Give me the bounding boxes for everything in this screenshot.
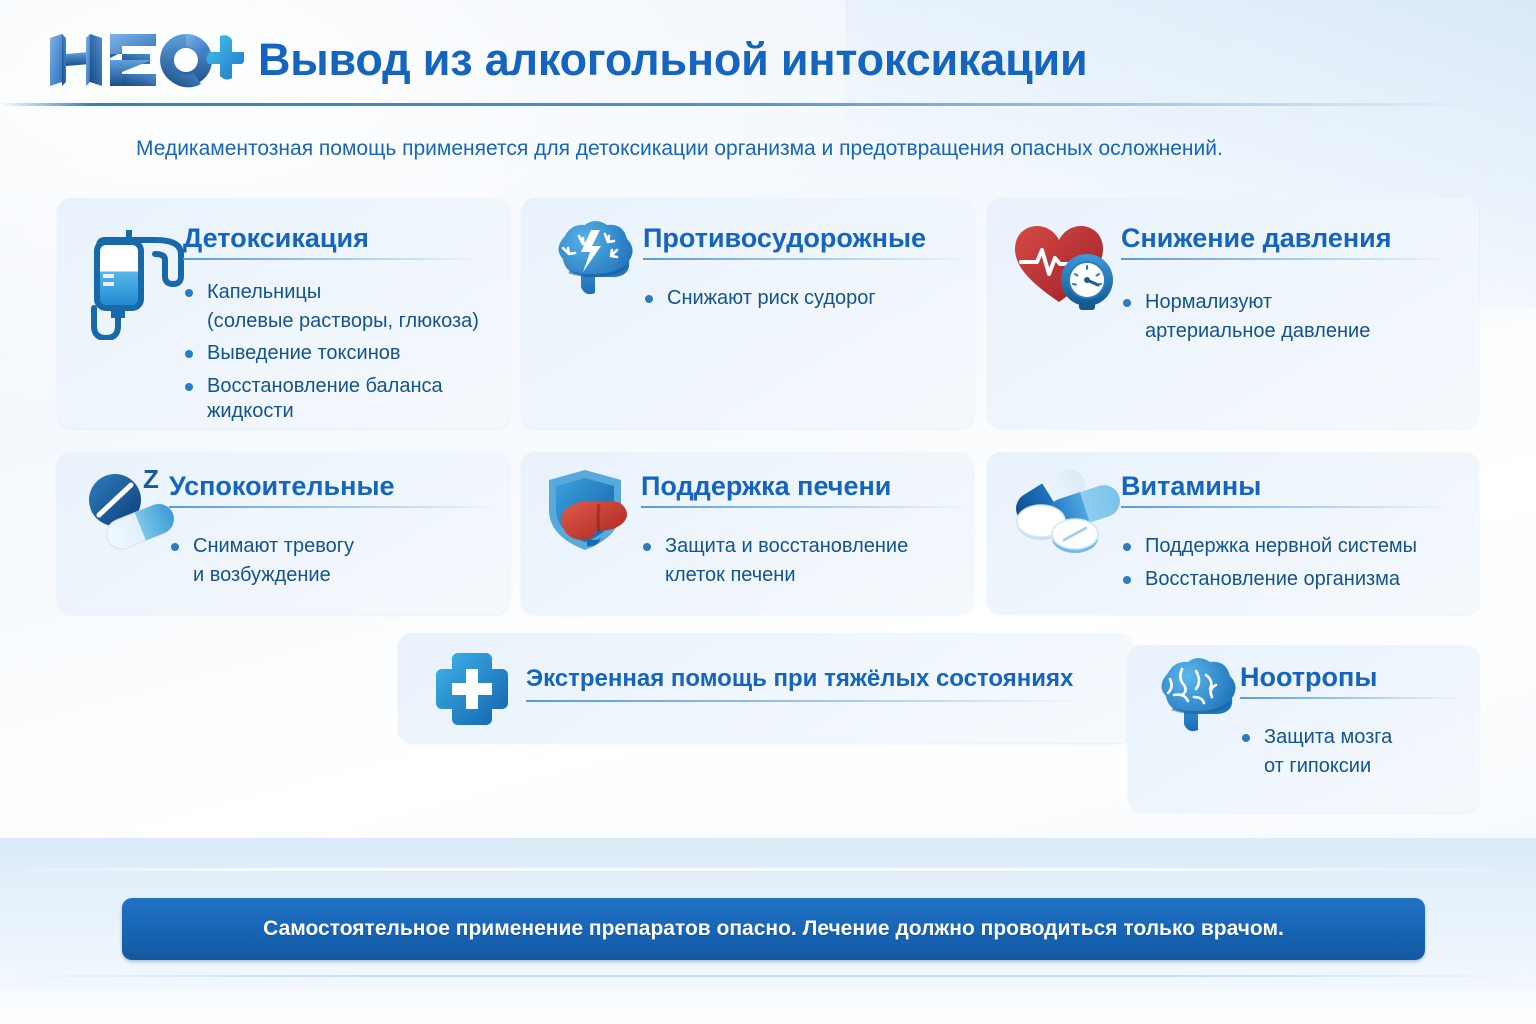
emergency-rule: [526, 700, 1086, 702]
neo-plus-logo-icon: [48, 32, 244, 88]
header-divider-highlight: [0, 106, 1536, 108]
card-anticonvulsant-bullets: Снижают риск судорог: [643, 286, 963, 319]
card-anticonvulsant-title: Противосудорожные: [643, 224, 973, 252]
background-band-rule: [0, 975, 1536, 977]
list-item: клеток печени: [641, 563, 971, 589]
card-pressure-heading: Снижение давления: [1121, 224, 1451, 260]
shield-liver-icon: [541, 466, 645, 567]
title-rule: [643, 258, 973, 260]
medical-cross-icon: [430, 647, 514, 736]
brain-lightning-icon: [543, 220, 639, 313]
card-nootropics[interactable]: Ноотропы Защита мозга от гипоксии: [1128, 645, 1479, 812]
card-nootropics-title: Ноотропы: [1240, 663, 1462, 691]
card-detox-heading: Детоксикация: [183, 224, 483, 260]
brain-icon: [1146, 657, 1242, 750]
card-pressure[interactable]: Снижение давления Нормализуют артериальн…: [987, 198, 1479, 428]
card-detox[interactable]: Детоксикация Капельницы (солевые раствор…: [57, 198, 510, 428]
card-liver-title: Поддержка печени: [641, 472, 971, 500]
card-vitamins-bullets: Поддержка нервной системы Восстановление…: [1121, 534, 1461, 599]
list-item: артериальное давление: [1121, 319, 1451, 345]
card-anticonvulsant[interactable]: Противосудорожные Снижают риск судорог: [521, 198, 974, 428]
page-title: Вывод из алкогольной интоксикации: [258, 34, 1087, 86]
footer-warning-text: Самостоятельное применение препаратов оп…: [263, 917, 1284, 941]
card-vitamins-title: Витамины: [1121, 472, 1451, 500]
emergency-banner-text: Экстренная помощь при тяжёлых состояниях: [526, 665, 1073, 693]
list-item: и возбуждение: [169, 563, 489, 589]
heart-gauge-icon: [1011, 218, 1121, 323]
list-item: Снижают риск судорог: [643, 286, 963, 312]
page-header: Вывод из алкогольной интоксикации: [0, 0, 1536, 112]
card-nootropics-bullets: Защита мозга от гипоксии: [1240, 725, 1470, 786]
page-subtitle: Медикаментозная помощь применяется для д…: [136, 137, 1223, 161]
title-rule: [183, 258, 483, 260]
card-liver-heading: Поддержка печени: [641, 472, 971, 508]
iv-drip-icon: [83, 220, 189, 345]
list-item: Нормализуют: [1121, 290, 1451, 316]
list-item: Снимают тревогу: [169, 534, 489, 560]
card-detox-bullets: Капельницы (солевые растворы, глюкоза) В…: [183, 280, 503, 432]
sleeping-pill-icon: Z: [77, 466, 177, 559]
brand-logo: [48, 32, 244, 88]
list-item: от гипоксии: [1240, 754, 1470, 780]
list-item: (солевые растворы, глюкоза): [183, 309, 503, 335]
list-item: Восстановление организма: [1121, 567, 1461, 593]
card-liver-bullets: Защита и восстановление клеток печени: [641, 534, 971, 595]
svg-text:Z: Z: [143, 466, 159, 494]
list-item: Защита мозга: [1240, 725, 1470, 751]
title-rule: [1121, 506, 1451, 508]
card-pressure-title: Снижение давления: [1121, 224, 1451, 252]
footer-warning-banner: Самостоятельное применение препаратов оп…: [122, 898, 1425, 960]
pills-icon: [1001, 464, 1121, 565]
card-sedative-heading: Успокоительные: [169, 472, 499, 508]
card-sedative-title: Успокоительные: [169, 472, 499, 500]
list-item: Выведение токсинов: [183, 341, 503, 367]
title-rule: [1240, 697, 1462, 699]
card-sedative-bullets: Снимают тревогу и возбуждение: [169, 534, 489, 595]
list-item: Поддержка нервной системы: [1121, 534, 1461, 560]
card-anticonvulsant-heading: Противосудорожные: [643, 224, 973, 260]
emergency-banner[interactable]: Экстренная помощь при тяжёлых состояниях: [398, 633, 1133, 743]
background-bottom-fade: [0, 988, 1536, 1024]
card-detox-title: Детоксикация: [183, 224, 483, 252]
card-sedative[interactable]: Z Успокоительные Снимают тревогу и возбу…: [57, 452, 510, 614]
card-nootropics-heading: Ноотропы: [1240, 663, 1462, 699]
title-rule: [641, 506, 971, 508]
card-vitamins[interactable]: Витамины Поддержка нервной системы Восст…: [987, 452, 1479, 614]
title-rule: [169, 506, 499, 508]
list-item: Капельницы: [183, 280, 503, 306]
card-vitamins-heading: Витамины: [1121, 472, 1451, 508]
list-item: Защита и восстановление: [641, 534, 971, 560]
list-item: Восстановление баланса жидкости: [183, 374, 503, 425]
title-rule: [1121, 258, 1451, 260]
card-pressure-bullets: Нормализуют артериальное давление: [1121, 290, 1451, 351]
background-band-highlight: [0, 868, 1536, 871]
card-liver[interactable]: Поддержка печени Защита и восстановление…: [521, 452, 974, 614]
